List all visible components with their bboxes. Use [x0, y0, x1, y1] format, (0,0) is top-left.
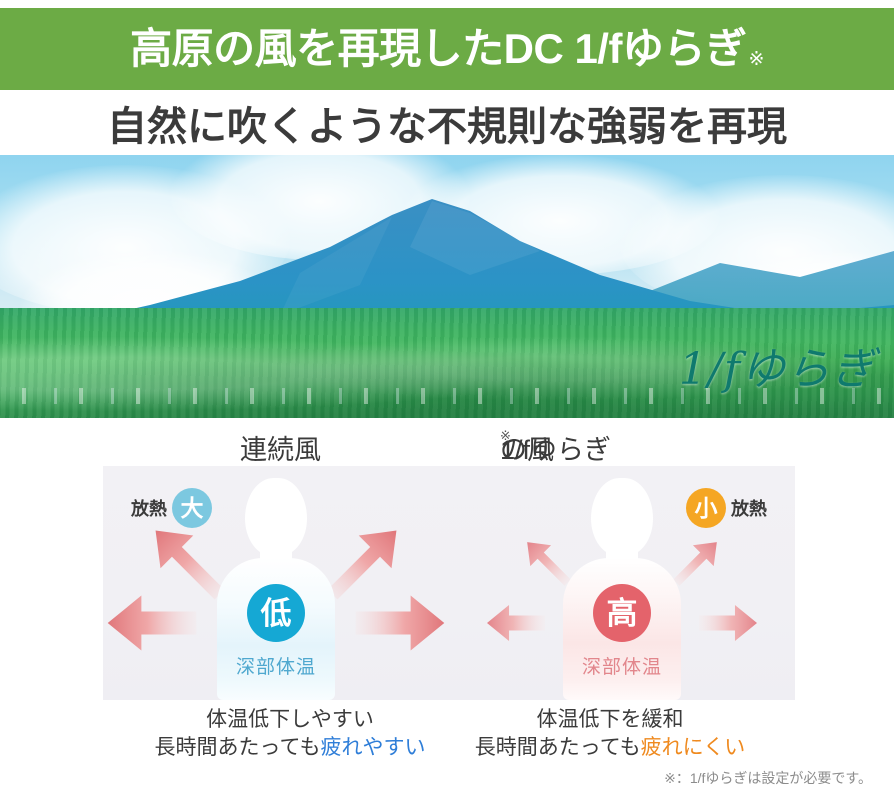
- caption-right: 体温低下を緩和 長時間あたっても疲れにくい: [450, 706, 770, 761]
- subheading-text: 自然に吹くような不規則な強弱を再現: [0, 92, 894, 154]
- heat-label-right: 放熱: [731, 495, 767, 521]
- heat-arrow-right: [699, 602, 757, 644]
- caption-right-line2-prefix: 長時間あたっても: [475, 736, 641, 759]
- caption-right-line2: 長時間あたっても疲れにくい: [450, 734, 770, 762]
- caption-left: 体温低下しやすい 長時間あたっても疲れやすい: [130, 706, 450, 761]
- infographic-page: 高原の風を再現したDC 1/fゆらぎ※ 自然に吹くような不規則な強弱を再現: [0, 0, 894, 793]
- headline-reference-mark: ※: [748, 49, 763, 70]
- footnote-text: ※：1/fゆらぎは設定が必要です。: [664, 768, 872, 788]
- heat-value-badge-left: 大: [172, 488, 212, 528]
- headline-title: 高原の風を再現したDC 1/fゆらぎ: [130, 25, 746, 72]
- caption-right-highlight: 疲れにくい: [641, 736, 746, 759]
- mountain-photo: 1/fゆらぎ: [0, 155, 894, 418]
- heat-arrow-left: [107, 592, 197, 654]
- heat-indicator-right: 小 放熱: [686, 488, 767, 528]
- diagram-header-left: 連続風: [240, 428, 321, 467]
- core-temp-badge-left: 低: [247, 584, 305, 642]
- core-temp-badge-right: 高: [593, 584, 651, 642]
- panel-half-yuragi-wind: 小 放熱: [449, 466, 795, 700]
- core-temp-label-left: 深部体温: [236, 652, 316, 679]
- caption-left-highlight: 疲れやすい: [320, 736, 425, 759]
- heat-arrow-right: [355, 592, 445, 654]
- caption-left-line2-prefix: 長時間あたっても: [155, 736, 321, 759]
- heat-arrow-left: [487, 602, 545, 644]
- captions: 体温低下しやすい 長時間あたっても疲れやすい 体温低下を緩和 長時間あたっても疲…: [0, 706, 894, 764]
- heat-value-badge-right: 小: [686, 488, 726, 528]
- caption-left-line2: 長時間あたっても疲れやすい: [130, 734, 450, 762]
- diagram-headers: 連続風 1/fゆらぎ※の風: [0, 428, 894, 464]
- yuragi-script-logo: 1/fゆらぎ: [679, 333, 876, 397]
- heat-label-left: 放熱: [131, 495, 167, 521]
- caption-left-line1: 体温低下しやすい: [130, 706, 450, 734]
- core-temp-label-right: 深部体温: [582, 652, 662, 679]
- caption-right-line1: 体温低下を緩和: [450, 706, 770, 734]
- panel-half-continuous-wind: 放熱 大: [103, 466, 449, 700]
- comparison-panel: 放熱 大: [103, 466, 795, 700]
- diagram-header-right-suffix: の風: [500, 428, 554, 467]
- headline-text: 高原の風を再現したDC 1/fゆらぎ※: [130, 28, 764, 70]
- headline-banner: 高原の風を再現したDC 1/fゆらぎ※: [0, 8, 894, 90]
- heat-indicator-left: 放熱 大: [131, 488, 212, 528]
